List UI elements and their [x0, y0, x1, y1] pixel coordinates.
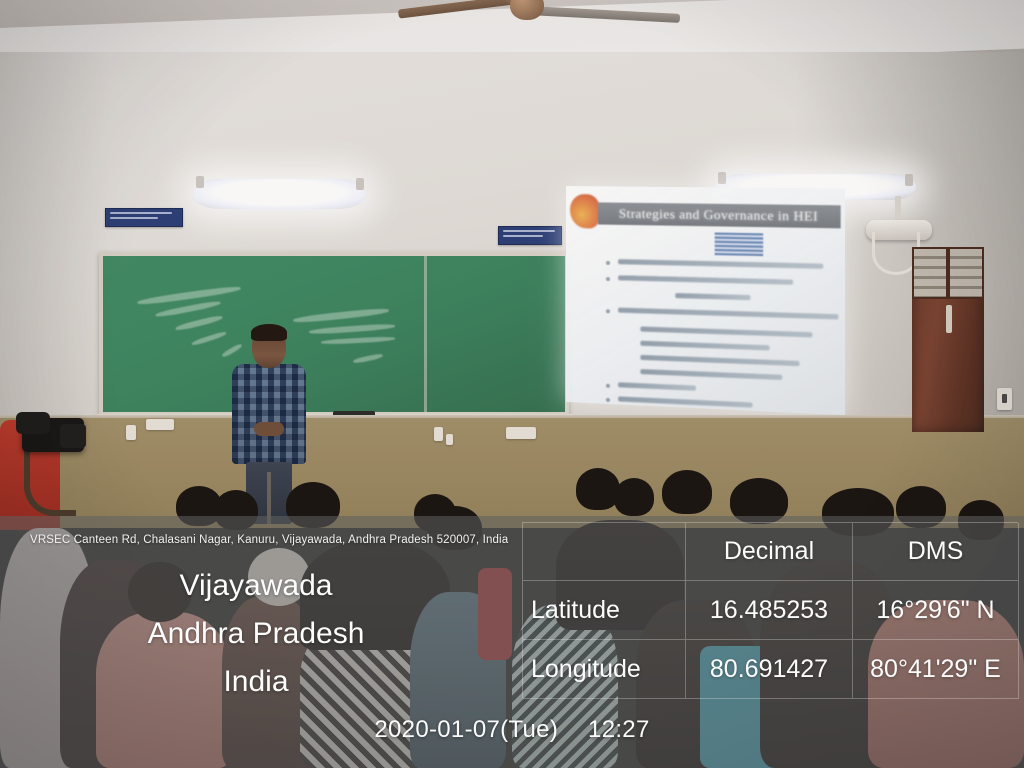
projected-slide: Strategies and Governance in HEI: [566, 186, 845, 415]
wall-plaque-left: [105, 208, 183, 227]
wall-shadow-left: [0, 52, 110, 422]
ceiling-fan-icon: [398, 0, 678, 34]
door-mullion: [946, 247, 950, 299]
latitude-decimal-value: 16.485253: [686, 581, 853, 640]
timestamp-date: 2020-01-07(Tue): [374, 716, 558, 744]
audience-head: [576, 468, 620, 510]
chalkboard: [99, 252, 569, 416]
camera-lens-icon: [60, 424, 86, 448]
latitude-dms-value: 16°29'6" N: [853, 581, 1019, 640]
address-line: VRSEC Canteen Rd, Chalasani Nagar, Kanur…: [30, 534, 508, 546]
wall-socket-5: [146, 419, 174, 430]
light-switch-knob: [1002, 394, 1007, 403]
wall-socket-1: [126, 425, 136, 440]
place-country: India: [0, 658, 512, 706]
table-corner-cell: [523, 523, 686, 581]
audience-head: [614, 478, 654, 516]
row-label-latitude: Latitude: [523, 581, 686, 640]
wall-plaque-right: [498, 226, 562, 245]
wall-socket-3: [446, 434, 453, 445]
longitude-dms-value: 80°41'29" E: [853, 640, 1019, 699]
tube-light-left: [193, 179, 365, 209]
camera-strap: [24, 448, 76, 516]
audience-head: [662, 470, 712, 514]
camera-hood: [16, 412, 50, 434]
row-label-longitude: Longitude: [523, 640, 686, 699]
timestamp-block: 2020-01-07(Tue) 12:27: [0, 716, 1024, 744]
slide-title: Strategies and Governance in HEI: [598, 202, 841, 228]
wall-fan-rod: [895, 196, 901, 222]
timestamp-time: 12:27: [588, 716, 650, 744]
place-state: Andhra Pradesh: [0, 610, 512, 658]
slide-badge-icon: [715, 233, 763, 257]
wall-socket-4: [506, 427, 536, 439]
slide-logo-icon: [570, 194, 600, 229]
coordinates-table: Decimal DMS Latitude 16.485253 16°29'6" …: [522, 522, 1018, 698]
column-header-decimal: Decimal: [686, 523, 853, 581]
gps-overlay-panel: VRSEC Canteen Rd, Chalasani Nagar, Kanur…: [0, 516, 1024, 768]
door-latch: [946, 305, 952, 333]
place-city: Vijayawada: [0, 562, 512, 610]
screenshot-root: Strategies and Governance in HEI: [0, 0, 1024, 768]
wall-socket-2: [434, 427, 443, 441]
longitude-decimal-value: 80.691427: [686, 640, 853, 699]
place-block: Vijayawada Andhra Pradesh India: [0, 562, 512, 706]
column-header-dms: DMS: [853, 523, 1019, 581]
